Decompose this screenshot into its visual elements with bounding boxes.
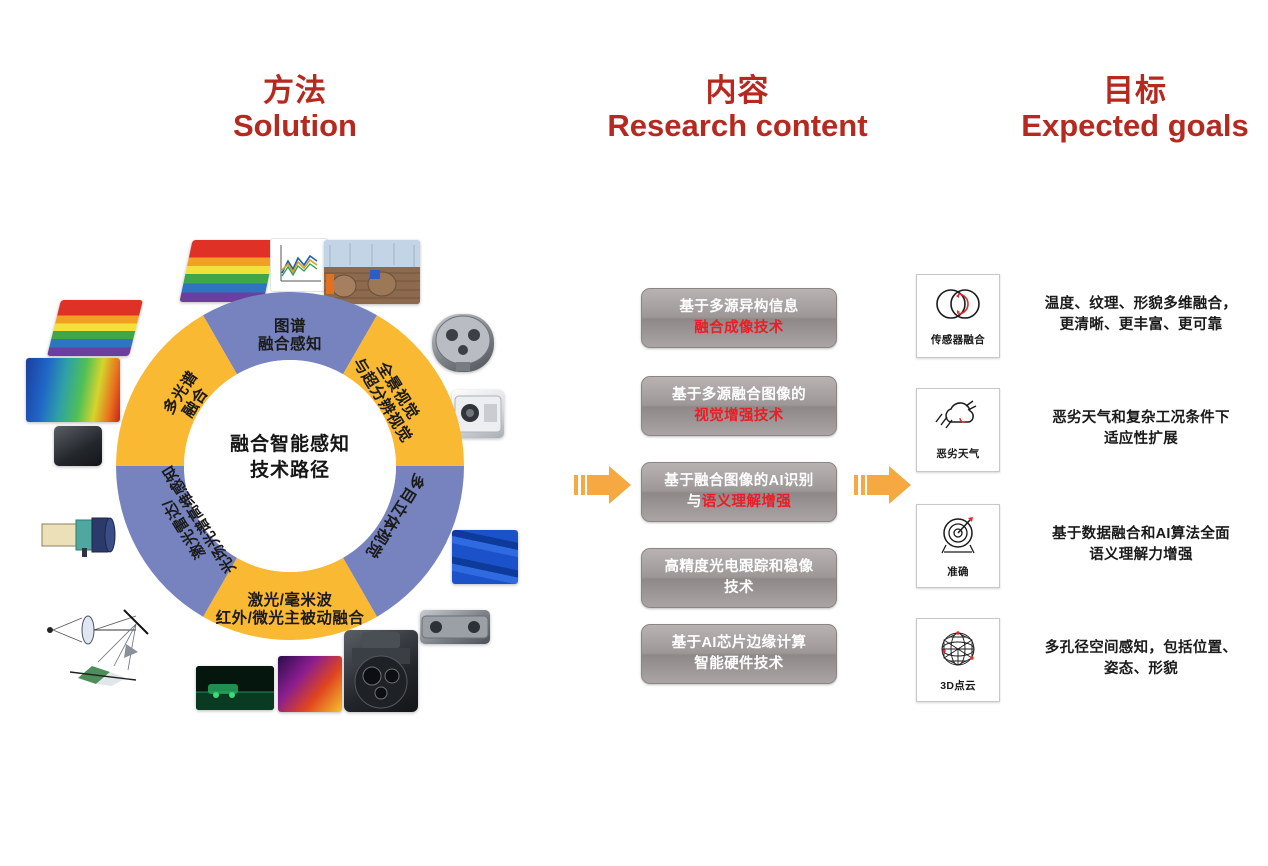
goal-text-4: 多孔径空间感知，包括位置、 姿态、形貌 bbox=[1016, 638, 1266, 680]
research-box-5-text: 基于AI芯片边缘计算 智能硬件技术 bbox=[672, 633, 807, 674]
arrow-content-to-goals bbox=[851, 462, 913, 513]
goal-card-4[interactable]: 3D点云 bbox=[916, 618, 1000, 702]
night-vision-sketch bbox=[196, 666, 274, 710]
research-box-3-text: 基于融合图像的AI识别 与语义理解增强 bbox=[664, 471, 813, 512]
donut-label-top: 图谱 融合感知 bbox=[220, 318, 360, 355]
infrared-camera-photo bbox=[54, 426, 102, 466]
research-box-2-text: 基于多源融合图像的 视觉增强技术 bbox=[672, 385, 806, 426]
research-box-1-text: 基于多源异构信息 融合成像技术 bbox=[679, 297, 798, 338]
goal-text-1: 温度、纹理、形貌多维融合， 更清晰、更丰富、更可靠 bbox=[1016, 294, 1266, 336]
arrow-right-icon bbox=[571, 462, 633, 508]
goal-text-2: 恶劣天气和复杂工况条件下 适应性扩展 bbox=[1016, 408, 1266, 450]
donut-center-text: 融合智能感知 技术路径 bbox=[190, 432, 390, 483]
spectral-curve-plot-image bbox=[270, 238, 328, 292]
research-box-3[interactable]: 基于融合图像的AI识别 与语义理解增强 bbox=[641, 462, 837, 522]
research-box-5[interactable]: 基于AI芯片边缘计算 智能硬件技术 bbox=[641, 624, 837, 684]
gimbal-turret-sketch bbox=[344, 630, 418, 712]
header-expected-goals: 目标 Expected goals bbox=[1000, 74, 1268, 143]
low-light-night-vision-image bbox=[196, 666, 274, 710]
goal-card-3-label: 准确 bbox=[947, 564, 969, 579]
header-solution: 方法 Solution bbox=[175, 74, 415, 143]
goal-card-2-label: 恶劣天气 bbox=[936, 446, 979, 461]
header-content-en: Research content bbox=[600, 109, 875, 144]
header-research-content: 内容 Research content bbox=[600, 74, 875, 143]
research-box-4-text: 高精度光电跟踪和稳像 技术 bbox=[665, 557, 814, 598]
optical-module-sketch bbox=[40, 512, 124, 560]
header-goals-en: Expected goals bbox=[1000, 109, 1268, 144]
goal-card-4-label: 3D点云 bbox=[940, 678, 976, 693]
header-content-cn: 内容 bbox=[600, 74, 875, 109]
header-solution-en: Solution bbox=[175, 109, 415, 144]
goal-card-1-label: 传感器融合 bbox=[931, 332, 985, 347]
optical-module-schematic bbox=[40, 512, 124, 560]
header-goals-cn: 目标 bbox=[1000, 74, 1268, 109]
point-cloud-icon bbox=[930, 628, 986, 675]
venn-fusion-icon bbox=[930, 284, 986, 329]
goal-card-3[interactable]: 准确 bbox=[916, 504, 1000, 588]
solution-donut-chart: 图谱 融合感知 全景视觉 与超分辨视觉 多目立体视觉 激光/毫米波 红外/微光主… bbox=[116, 292, 464, 640]
donut-label-bottom: 激光/毫米波 红外/微光主被动融合 bbox=[180, 592, 400, 629]
target-icon bbox=[930, 514, 986, 561]
rain-weather-icon bbox=[930, 398, 986, 443]
research-box-4[interactable]: 高精度光电跟踪和稳像 技术 bbox=[641, 548, 837, 608]
electro-optical-gimbal-turret-photo bbox=[344, 630, 418, 712]
goal-card-1[interactable]: 传感器融合 bbox=[916, 274, 1000, 358]
research-box-1[interactable]: 基于多源异构信息 融合成像技术 bbox=[641, 288, 837, 348]
arrow-solution-to-content bbox=[571, 462, 633, 513]
spectral-plot-svg bbox=[271, 239, 327, 291]
header-solution-cn: 方法 bbox=[175, 74, 415, 109]
arrow-right-icon bbox=[851, 462, 913, 508]
research-box-2[interactable]: 基于多源融合图像的 视觉增强技术 bbox=[641, 376, 837, 436]
infrared-fire-scene-image bbox=[278, 656, 342, 712]
diagram-canvas: 方法 Solution 内容 Research content 目标 Expec… bbox=[0, 0, 1268, 866]
goal-text-3: 基于数据融合和AI算法全面 语义理解力增强 bbox=[1016, 524, 1266, 566]
thermal-infrared-image bbox=[26, 358, 120, 422]
goal-card-2[interactable]: 恶劣天气 bbox=[916, 388, 1000, 472]
